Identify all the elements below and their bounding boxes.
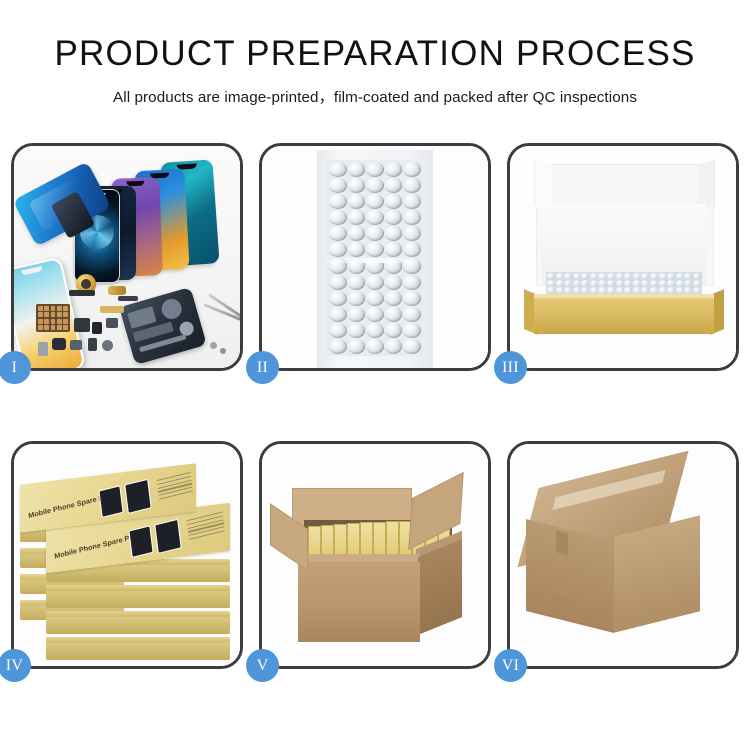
- speaker-part-icon: [106, 318, 118, 328]
- step-badge-1: I: [0, 351, 31, 384]
- step-panel-4: Mobile Phone Spare Parts Mobile Phone Sp…: [11, 441, 243, 669]
- step-panel-2: II: [259, 143, 491, 371]
- screw-icon: [220, 348, 226, 354]
- box-screen-image-icon: [98, 485, 123, 518]
- stacked-box-edge: [46, 611, 230, 617]
- page-subtitle: All products are image-printed，film-coat…: [0, 85, 750, 107]
- step-image-1: [14, 146, 240, 368]
- stacked-box-edge: [46, 590, 230, 608]
- step-panel-5: V: [259, 441, 491, 669]
- stacked-box-edge: [46, 616, 230, 634]
- gold-flex-icon: [100, 306, 124, 313]
- step-image-4: Mobile Phone Spare Parts Mobile Phone Sp…: [14, 444, 240, 666]
- sealed-carton-scene: [510, 444, 736, 666]
- carton-front-panel-icon: [298, 562, 420, 642]
- stacked-box-edge: [46, 637, 230, 643]
- page-title: PRODUCT PREPARATION PROCESS: [0, 36, 750, 73]
- box-spec-lines: [157, 472, 194, 502]
- stacked-box-edge: [46, 585, 230, 591]
- step-panel-1: I: [11, 143, 243, 371]
- step-panel-6: VI: [507, 441, 739, 669]
- screw-icon: [210, 342, 217, 349]
- gold-connector-icon: [108, 286, 126, 295]
- bracket-part-icon: [70, 340, 82, 350]
- screw-tray-icon: [36, 304, 70, 332]
- button-part-icon: [102, 340, 113, 351]
- step-badge-5: V: [246, 649, 279, 682]
- wrap-seam: [325, 258, 425, 263]
- header: PRODUCT PREPARATION PROCESS All products…: [0, 0, 750, 107]
- step-badge-6: VI: [494, 649, 527, 682]
- box-screen-image-icon: [154, 519, 181, 554]
- carton-packing-scene: [262, 444, 488, 666]
- carton-side-panel: [418, 539, 462, 635]
- step-image-3: [510, 146, 736, 368]
- sim-tray-icon: [88, 338, 97, 351]
- small-part-icon: [92, 322, 102, 334]
- flex-cable-icon: [69, 290, 95, 296]
- sealed-carton-right-face: [614, 515, 700, 632]
- ribbon-cable-icon: [118, 296, 138, 301]
- inner-box-scene: [510, 146, 736, 368]
- step-badge-4: IV: [0, 649, 31, 682]
- carton-seal-mark: [554, 595, 566, 618]
- step-image-5: [262, 444, 488, 666]
- step-image-2: [262, 146, 488, 368]
- step-panel-3: III: [507, 143, 739, 371]
- step-badge-3: III: [494, 351, 527, 384]
- box-stack: Mobile Phone Spare Parts Mobile Phone Sp…: [20, 460, 240, 660]
- stacked-box-edge: [46, 642, 230, 660]
- process-steps-grid: I: [11, 143, 739, 669]
- phone-parts-scene: [14, 146, 240, 368]
- retail-box-stack-scene: Mobile Phone Spare Parts Mobile Phone Sp…: [14, 444, 240, 666]
- box-spec-lines: [187, 512, 225, 543]
- step-image-6: [510, 444, 736, 666]
- lid-flap-left: [534, 160, 551, 211]
- camera-module-icon: [74, 318, 90, 332]
- bubble-wrap-scene: [262, 146, 488, 368]
- metal-clip-icon: [38, 342, 48, 356]
- lid-flap-right: [698, 160, 715, 211]
- product-preparation-infographic: PRODUCT PREPARATION PROCESS All products…: [0, 0, 750, 750]
- carton-seal-mark: [556, 531, 568, 556]
- box-screen-image-icon: [128, 525, 153, 558]
- vibrator-part-icon: [52, 338, 66, 350]
- kraft-box-front-icon: [534, 298, 714, 334]
- box-screen-image-icon: [124, 479, 151, 514]
- step-badge-2: II: [246, 351, 279, 384]
